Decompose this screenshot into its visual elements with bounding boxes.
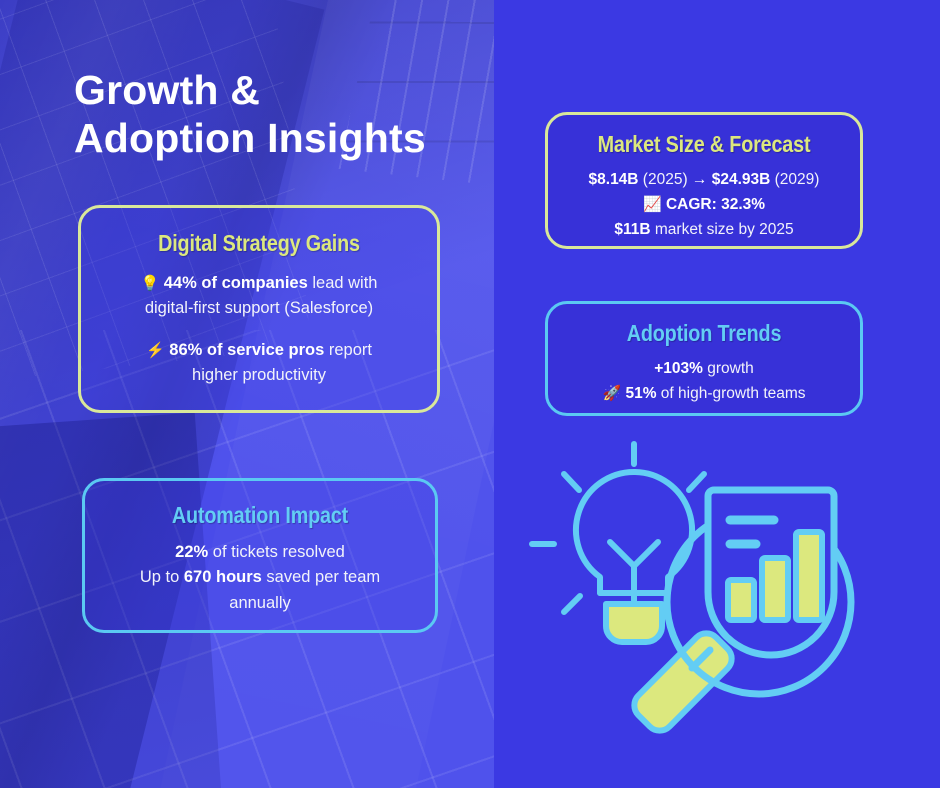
bulb-ray-upper-right — [689, 474, 704, 490]
card-market-size-forecast[interactable]: Market Size & Forecast $8.14B (2025) → $… — [545, 112, 863, 249]
card-market-value-2029: $24.93B — [707, 171, 770, 188]
page-title-line-2: Adoption Insights — [74, 114, 494, 162]
card-automation-line-3: annually — [103, 591, 417, 617]
bar-3 — [796, 532, 822, 620]
card-digital-stat-1-line-1: 💡 44% of companies lead with — [99, 271, 419, 297]
bar-2 — [762, 558, 788, 620]
chart-increasing-icon: 📈 — [643, 196, 662, 213]
card-digital-stat-1: 💡 44% of companies lead with digital-fir… — [99, 271, 419, 322]
lightbulb-icon — [532, 444, 704, 628]
page-title: Growth & Adoption Insights — [74, 66, 494, 163]
card-market-line-1: $8.14B (2025) → $24.93B (2029) — [566, 167, 842, 192]
card-digital-stat-2-bold: 86% of service pros — [169, 341, 324, 359]
bulb-filament — [610, 542, 658, 566]
card-digital-strategy-gains[interactable]: Digital Strategy Gains 💡 44% of companie… — [78, 205, 440, 413]
card-market-title: Market Size & Forecast — [585, 131, 822, 159]
card-market-size-rest: market size by 2025 — [651, 221, 794, 238]
card-automation-line-1: 22% of tickets resolved — [103, 540, 417, 566]
card-automation-line-1-rest: of tickets resolved — [208, 543, 345, 561]
card-market-value-2025: $8.14B — [589, 171, 639, 188]
card-market-line-2: 📈 CAGR: 32.3% — [566, 192, 842, 217]
card-digital-stat-1-rest: lead with — [308, 274, 378, 292]
bulb-ray-lower-left — [564, 596, 580, 612]
card-adoption-growth-value: +103% — [654, 360, 703, 377]
card-market-size-value: $11B — [614, 221, 650, 238]
card-adoption-title: Adoption Trends — [585, 320, 822, 348]
lightning-bolt-icon: ⚡ — [146, 342, 165, 359]
bulb-ray-upper-left — [564, 474, 579, 490]
bulb-base — [606, 604, 662, 642]
bar-chart-document-icon — [708, 490, 834, 655]
card-automation-line-2-pre: Up to — [140, 568, 184, 586]
card-automation-impact[interactable]: Automation Impact 22% of tickets resolve… — [82, 478, 438, 633]
card-digital-stat-1-bold: 44% of companies — [164, 274, 308, 292]
card-adoption-trends[interactable]: Adoption Trends +103% growth 🚀 51% of hi… — [545, 301, 863, 416]
insight-illustration — [524, 432, 884, 744]
card-market-line-3: $11B market size by 2025 — [566, 217, 842, 242]
card-digital-stat-2-rest: report — [324, 341, 372, 359]
card-digital-title: Digital Strategy Gains — [121, 230, 396, 258]
card-automation-line-2: Up to 670 hours saved per team — [103, 565, 417, 591]
card-adoption-growth-rest: growth — [703, 360, 754, 377]
card-automation-line-1-bold: 22% — [175, 543, 208, 561]
card-market-year-2029: (2029) — [770, 171, 819, 188]
card-digital-stat-1-line-2: digital-first support (Salesforce) — [99, 296, 419, 322]
infographic-canvas: Growth & Adoption Insights Digital Strat… — [0, 0, 940, 788]
card-automation-line-2-rest: saved per team — [262, 568, 380, 586]
card-adoption-teams-rest: of high-growth teams — [656, 385, 805, 402]
card-automation-line-2-bold: 670 hours — [184, 568, 262, 586]
card-digital-stat-2-line-2: higher productivity — [99, 363, 419, 389]
card-adoption-line-1: +103% growth — [566, 356, 842, 381]
card-adoption-teams-value: 51% — [625, 385, 656, 402]
card-adoption-line-2: 🚀 51% of high-growth teams — [566, 381, 842, 406]
card-market-year-2025: (2025) — [639, 171, 692, 188]
rocket-icon: 🚀 — [602, 385, 621, 402]
arrow-right-icon: → — [692, 171, 708, 188]
card-digital-stat-2: ⚡ 86% of service pros report higher prod… — [99, 338, 419, 389]
card-market-cagr: CAGR: 32.3% — [666, 196, 765, 213]
lightbulb-icon: 💡 — [141, 275, 160, 292]
bar-1 — [728, 580, 754, 620]
card-automation-title: Automation Impact — [125, 502, 395, 530]
page-title-line-1: Growth & — [74, 66, 494, 114]
card-digital-stat-2-line-1: ⚡ 86% of service pros report — [99, 338, 419, 364]
